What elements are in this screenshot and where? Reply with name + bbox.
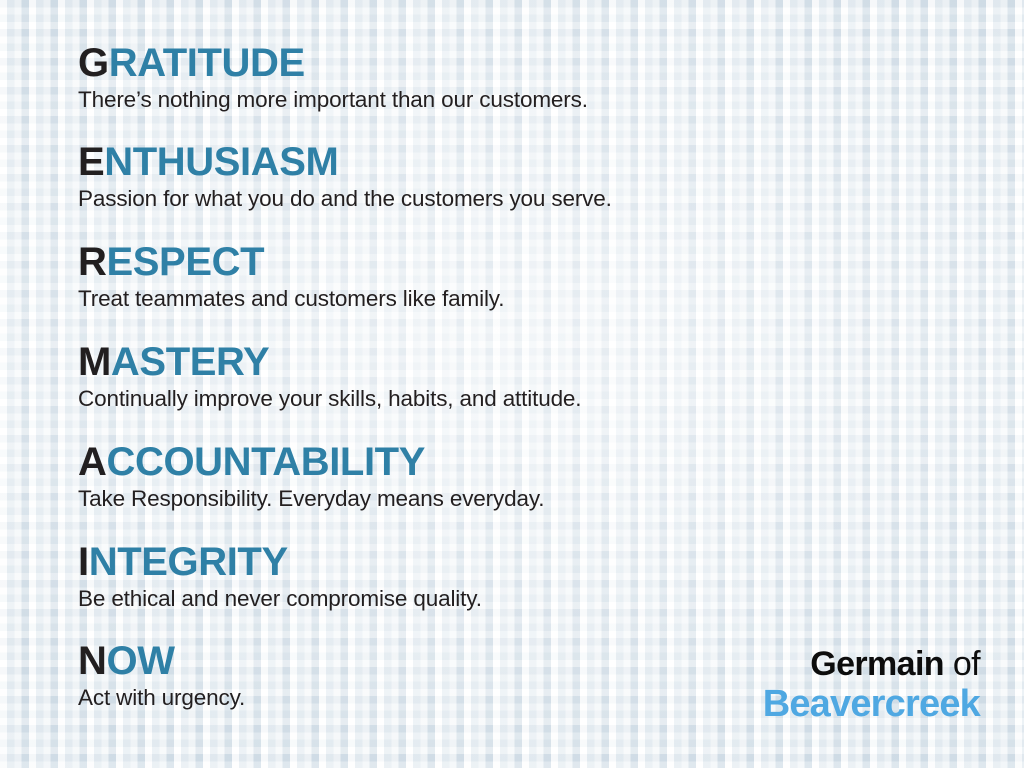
value-heading-rest: NTEGRITY: [89, 540, 288, 584]
value-block-respect: RESPECT Treat teammates and customers li…: [78, 240, 504, 312]
value-heading: NOW: [78, 639, 245, 683]
value-block-integrity: INTEGRITY Be ethical and never compromis…: [78, 540, 482, 612]
value-block-now: NOW Act with urgency.: [78, 639, 245, 711]
value-heading-rest: ESPECT: [107, 240, 265, 284]
value-description: There’s nothing more important than our …: [78, 86, 588, 113]
value-heading-rest: CCOUNTABILITY: [107, 440, 425, 484]
value-heading-rest: ASTERY: [111, 340, 269, 384]
value-description: Be ethical and never compromise quality.: [78, 585, 482, 612]
logo-connector: of: [944, 645, 980, 683]
values-poster: GRATITUDE There’s nothing more important…: [0, 0, 1024, 768]
value-initial-letter: R: [78, 240, 107, 284]
value-heading: MASTERY: [78, 340, 581, 384]
value-initial-letter: I: [78, 540, 89, 584]
value-initial-letter: G: [78, 41, 109, 85]
logo-line-germain-of: Germain of: [763, 645, 980, 683]
value-initial-letter: N: [78, 639, 107, 683]
value-description: Continually improve your skills, habits,…: [78, 385, 581, 412]
value-description: Take Responsibility. Everyday means ever…: [78, 485, 544, 512]
value-heading-rest: NTHUSIASM: [104, 140, 338, 184]
value-heading: ACCOUNTABILITY: [78, 440, 544, 484]
value-initial-letter: A: [78, 440, 107, 484]
logo-location: Beavercreek: [763, 683, 980, 725]
value-heading: INTEGRITY: [78, 540, 482, 584]
value-block-mastery: MASTERY Continually improve your skills,…: [78, 340, 581, 412]
value-heading: GRATITUDE: [78, 41, 588, 85]
value-description: Act with urgency.: [78, 684, 245, 711]
dealership-logo: Germain of Beavercreek: [763, 645, 980, 725]
value-heading: RESPECT: [78, 240, 504, 284]
value-description: Treat teammates and customers like famil…: [78, 285, 504, 312]
logo-brand-name: Germain: [810, 645, 944, 683]
value-heading-rest: RATITUDE: [109, 41, 305, 85]
value-block-accountability: ACCOUNTABILITY Take Responsibility. Ever…: [78, 440, 544, 512]
value-description: Passion for what you do and the customer…: [78, 185, 612, 212]
value-heading: ENTHUSIASM: [78, 140, 612, 184]
value-initial-letter: E: [78, 140, 104, 184]
value-block-gratitude: GRATITUDE There’s nothing more important…: [78, 41, 588, 113]
value-heading-rest: OW: [107, 639, 175, 683]
value-initial-letter: M: [78, 340, 111, 384]
value-block-enthusiasm: ENTHUSIASM Passion for what you do and t…: [78, 140, 612, 212]
